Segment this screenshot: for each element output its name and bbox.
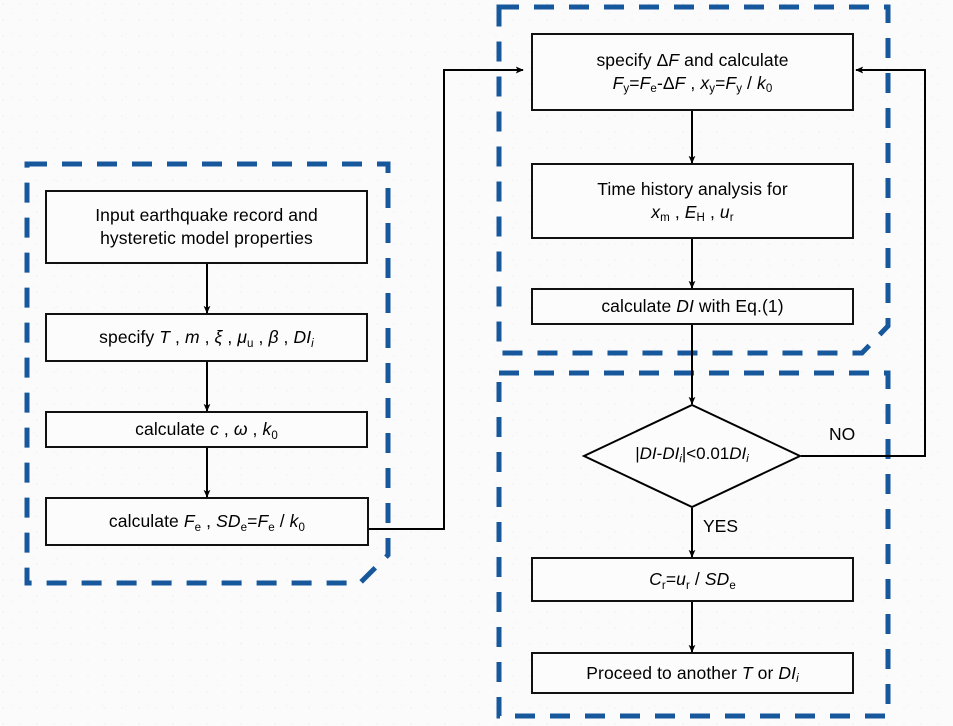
- node-text: calculate Fe , SDe=Fe / k0: [53, 510, 361, 533]
- node-line-2: hysteretic model properties: [53, 227, 360, 250]
- node-specify-parameters[interactable]: specify T , m , ξ , μu , β , DIi: [45, 313, 368, 362]
- node-text: specify ΔF and calculate Fy=Fe-ΔF , xy=F…: [539, 49, 846, 95]
- node-text: Cr=ur / SDe: [539, 568, 846, 591]
- node-specify-delta-f[interactable]: specify ΔF and calculate Fy=Fe-ΔF , xy=F…: [531, 33, 854, 111]
- node-text: calculate DI with Eq.(1): [539, 295, 846, 318]
- node-line-1: Input earthquake record and: [53, 204, 360, 227]
- node-input-earthquake-record[interactable]: Input earthquake record and hysteretic m…: [45, 190, 368, 264]
- flowchart-canvas: Input earthquake record and hysteretic m…: [0, 0, 953, 726]
- node-text: specify T , m , ξ , μu , β , DIi: [53, 326, 360, 349]
- node-text: calculate c , ω , k0: [53, 418, 360, 441]
- node-text: Proceed to another T or DIi: [539, 662, 846, 685]
- node-calculate-fe-sde[interactable]: calculate Fe , SDe=Fe / k0: [45, 497, 369, 546]
- node-time-history-analysis[interactable]: Time history analysis for xm , EH , ur: [531, 163, 854, 239]
- node-calculate-cr[interactable]: Cr=ur / SDe: [531, 557, 854, 602]
- node-calculate-c-omega-k0[interactable]: calculate c , ω , k0: [45, 411, 368, 448]
- edge-label-yes: YES: [703, 516, 738, 537]
- node-layer: Input earthquake record and hysteretic m…: [0, 0, 953, 726]
- edge-label-no: NO: [829, 424, 855, 445]
- node-proceed-next-case[interactable]: Proceed to another T or DIi: [531, 652, 854, 694]
- node-text: Time history analysis for xm , EH , ur: [539, 178, 846, 224]
- decision-label: |DI-DIi|<0.01DIi: [584, 444, 800, 464]
- node-calculate-di[interactable]: calculate DI with Eq.(1): [531, 288, 854, 325]
